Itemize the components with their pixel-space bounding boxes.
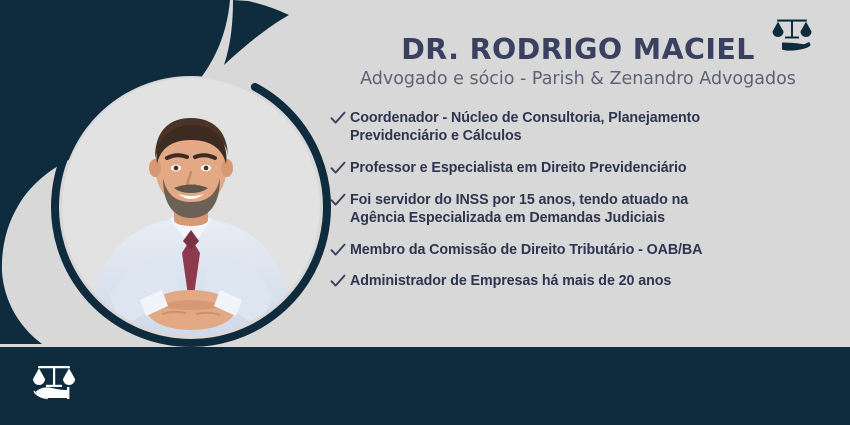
list-item: Administrador de Empresas há mais de 20 … bbox=[328, 272, 828, 291]
credentials-list: Coordenador - Núcleo de Consultoria, Pla… bbox=[328, 109, 828, 291]
check-icon bbox=[330, 274, 350, 288]
list-item: Membro da Comissão de Direito Tributário… bbox=[328, 241, 828, 260]
portrait-illustration bbox=[62, 78, 320, 336]
bottom-bar bbox=[0, 347, 850, 425]
page-title: DR. RODRIGO MACIEL bbox=[328, 34, 828, 66]
credential-text: Professor e Especialista em Direito Prev… bbox=[350, 159, 799, 178]
credential-text: Foi servidor do INSS por 15 anos, tendo … bbox=[350, 191, 799, 228]
list-item: Foi servidor do INSS por 15 anos, tendo … bbox=[328, 191, 828, 228]
profile-banner: DR. RODRIGO MACIEL Advogado e sócio - Pa… bbox=[0, 0, 850, 425]
profile-content: DR. RODRIGO MACIEL Advogado e sócio - Pa… bbox=[328, 34, 828, 304]
profile-subtitle: Advogado e sócio - Parish & Zenandro Adv… bbox=[328, 69, 828, 90]
credential-text: Membro da Comissão de Direito Tributário… bbox=[350, 241, 799, 260]
list-item: Coordenador - Núcleo de Consultoria, Pla… bbox=[328, 109, 828, 146]
scales-of-justice-in-hand-icon bbox=[768, 12, 816, 56]
credential-text: Coordenador - Núcleo de Consultoria, Pla… bbox=[350, 109, 799, 146]
check-icon bbox=[330, 193, 350, 207]
list-item: Professor e Especialista em Direito Prev… bbox=[328, 159, 828, 178]
check-icon bbox=[330, 111, 350, 125]
check-icon bbox=[330, 161, 350, 175]
check-icon bbox=[330, 243, 350, 257]
scales-of-justice-in-hand-icon bbox=[28, 358, 80, 406]
avatar bbox=[62, 78, 320, 336]
credential-text: Administrador de Empresas há mais de 20 … bbox=[350, 272, 799, 291]
